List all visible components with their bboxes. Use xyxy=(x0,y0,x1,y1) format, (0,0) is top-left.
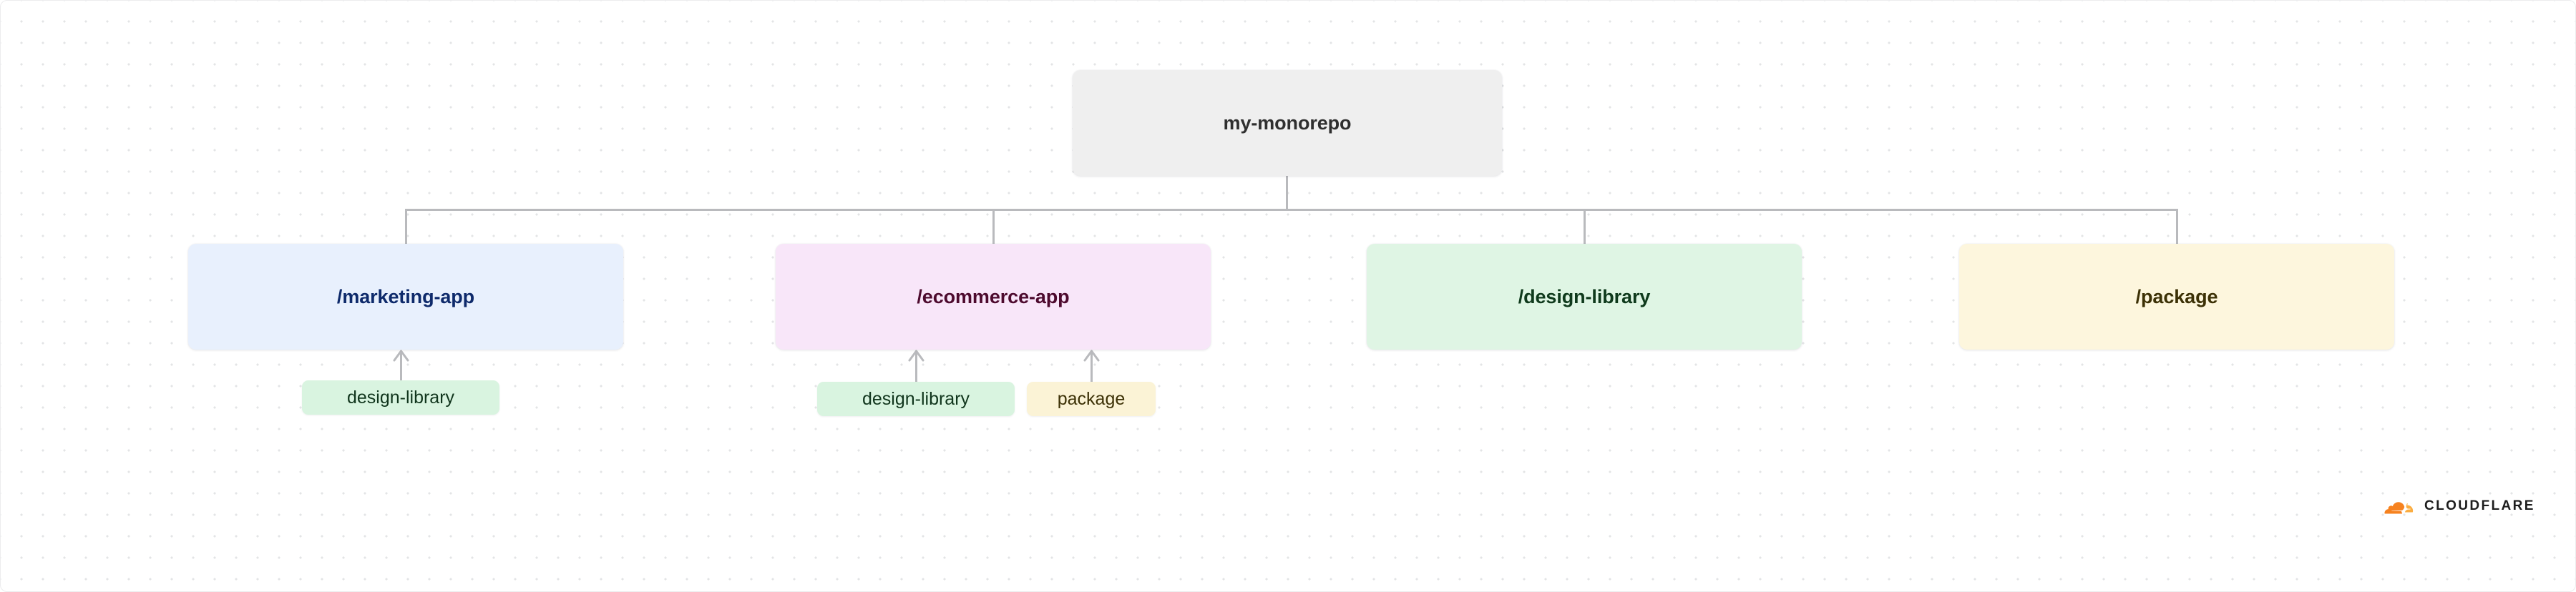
node-label-my-monorepo: my-monorepo xyxy=(1224,112,1352,134)
edge-dep-ecommerce-package-head xyxy=(1085,351,1098,360)
diagram-canvas[interactable]: my-monorepo /marketing-app /ecommerce-ap… xyxy=(0,0,2576,592)
dependency-chip-marketing-design-library[interactable]: design-library xyxy=(302,380,499,415)
cloudflare-wordmark: CLOUDFLARE xyxy=(2424,499,2535,513)
node-package[interactable]: /package xyxy=(1959,244,2394,350)
edge-dep-ecommerce-design-library-head xyxy=(909,351,923,360)
dependency-chip-label: design-library xyxy=(347,388,454,408)
cloudflare-cloud-icon xyxy=(2371,495,2415,515)
node-ecommerce-app[interactable]: /ecommerce-app xyxy=(776,244,1211,350)
node-label-package: /package xyxy=(2136,286,2218,308)
dependency-chip-label: package xyxy=(1058,389,1126,410)
node-label-marketing-app: /marketing-app xyxy=(337,286,474,308)
dependency-chip-ecommerce-design-library[interactable]: design-library xyxy=(817,382,1015,416)
cloudflare-logo: CLOUDFLARE xyxy=(2371,495,2535,515)
dependency-chip-label: design-library xyxy=(862,389,970,410)
node-my-monorepo[interactable]: my-monorepo xyxy=(1073,70,1502,176)
dependency-chip-ecommerce-package[interactable]: package xyxy=(1027,382,1156,416)
node-label-ecommerce-app: /ecommerce-app xyxy=(917,286,1069,308)
node-marketing-app[interactable]: /marketing-app xyxy=(188,244,623,350)
node-design-library[interactable]: /design-library xyxy=(1367,244,1802,350)
edge-dep-marketing-design-library-head xyxy=(394,351,408,360)
node-label-design-library: /design-library xyxy=(1518,286,1651,308)
